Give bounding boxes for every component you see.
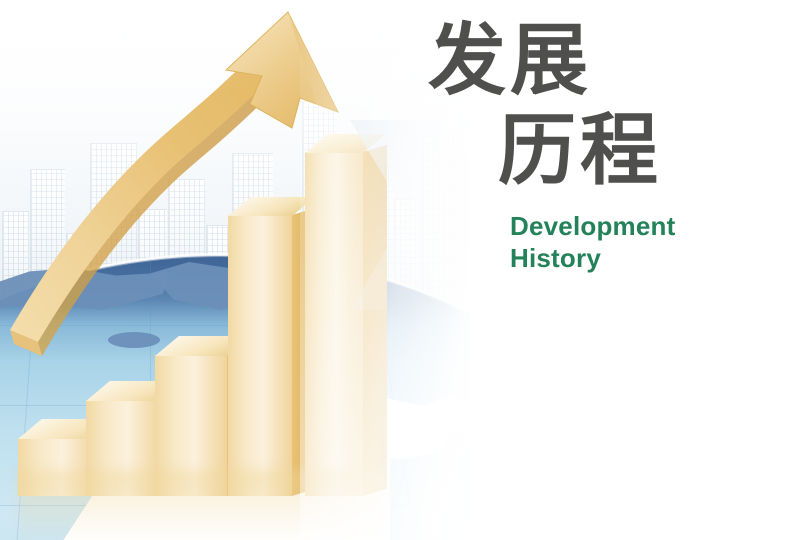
bar-reflection: [18, 470, 388, 540]
development-history-banner: 发展 历程 Development History: [0, 0, 800, 540]
title-english-line-1: Development: [510, 210, 760, 242]
title-english: Development History: [510, 210, 760, 274]
title-chinese-line-1: 发展: [428, 22, 760, 100]
chart-bar-5: [305, 152, 363, 496]
title-english-line-2: History: [510, 242, 760, 274]
banner-artwork: [0, 0, 470, 540]
title-chinese-line-2: 历程: [498, 112, 760, 190]
title-block: 发展 历程 Development History: [420, 22, 760, 274]
chart-bar-4: [228, 215, 292, 496]
